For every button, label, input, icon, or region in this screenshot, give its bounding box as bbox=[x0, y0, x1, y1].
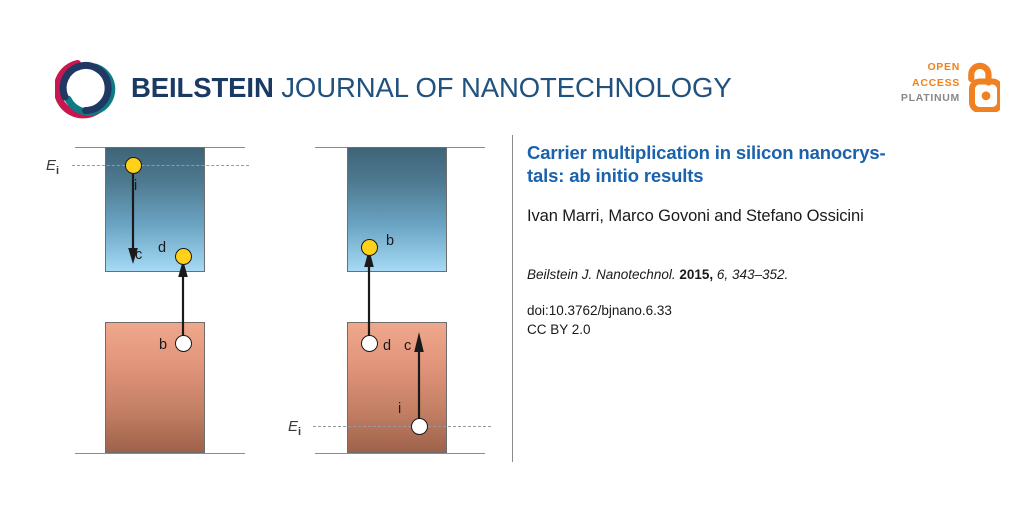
panel-right-arrow-d-to-b bbox=[364, 247, 384, 342]
journal-header: BEILSTEIN JOURNAL OF NANOTECHNOLOGY OPEN… bbox=[0, 0, 1024, 132]
panel-right-bottom-rail bbox=[315, 453, 485, 454]
panel-right-carrier-c-label: c bbox=[404, 339, 411, 354]
panel-right-carrier-d-label: d bbox=[383, 339, 391, 354]
panel-left-energy-symbol: E bbox=[46, 157, 56, 174]
journal-wordmark-bold: BEILSTEIN bbox=[131, 72, 274, 103]
panel-left-carrier-d bbox=[175, 248, 192, 265]
panel-right-energy-symbol: E bbox=[288, 418, 298, 435]
article-doi[interactable]: doi:10.3762/bjnano.6.33 bbox=[527, 301, 957, 320]
article-title: Carrier multiplication in silicon nanocr… bbox=[527, 142, 957, 187]
panel-left-carrier-c-label: c bbox=[135, 248, 142, 263]
panel-left-carrier-b bbox=[175, 335, 192, 352]
panel-left-arrow-b-to-d bbox=[178, 258, 198, 340]
panel-left-carrier-d-label: d bbox=[158, 241, 166, 256]
panel-left-carrier-b-label: b bbox=[159, 338, 167, 353]
citation-year: 2015, bbox=[679, 267, 713, 282]
panel-left-energy-level-line bbox=[72, 165, 249, 166]
open-access-line-open: OPEN bbox=[840, 60, 960, 76]
open-lock-icon bbox=[962, 62, 1000, 112]
panel-left-carrier-i bbox=[125, 157, 142, 174]
panel-right-conduction-band bbox=[347, 147, 447, 272]
beilstein-ring-logo-icon bbox=[55, 57, 117, 119]
article-citation: Beilstein J. Nanotechnol. 2015, 6, 343–3… bbox=[527, 227, 957, 284]
citation-pages: 343–352. bbox=[732, 267, 788, 282]
panel-left-bottom-rail bbox=[75, 453, 245, 454]
panel-right-energy-subscript: i bbox=[298, 426, 301, 438]
article-metadata: Carrier multiplication in silicon nanocr… bbox=[527, 142, 957, 339]
panel-left-carrier-i-label: i bbox=[134, 179, 137, 194]
panel-right-arrow-i-to-c bbox=[414, 330, 434, 430]
journal-wordmark: BEILSTEIN JOURNAL OF NANOTECHNOLOGY bbox=[131, 70, 732, 106]
article-cover-card: BEILSTEIN JOURNAL OF NANOTECHNOLOGY OPEN… bbox=[0, 0, 1024, 512]
panel-right-carrier-i bbox=[411, 418, 428, 435]
carrier-multiplication-band-diagram: Ei i c d b Ei bbox=[0, 130, 512, 475]
citation-volume: 6, bbox=[717, 267, 728, 282]
panel-right-energy-level-label: Ei bbox=[288, 419, 301, 438]
open-access-line-platinum: PLATINUM bbox=[840, 91, 960, 107]
panel-right-carrier-b bbox=[361, 239, 378, 256]
panel-left-energy-subscript: i bbox=[56, 165, 59, 177]
open-access-badge: OPEN ACCESS PLATINUM bbox=[888, 60, 1000, 118]
panel-right-carrier-d bbox=[361, 335, 378, 352]
vertical-divider bbox=[512, 135, 513, 462]
citation-journal: Beilstein J. Nanotechnol. bbox=[527, 267, 676, 282]
panel-right-energy-level-line bbox=[313, 426, 491, 427]
journal-wordmark-light: JOURNAL OF NANOTECHNOLOGY bbox=[274, 72, 732, 103]
article-authors: Ivan Marri, Marco Govoni and Stefano Oss… bbox=[527, 187, 957, 227]
article-license[interactable]: CC BY 2.0 bbox=[527, 320, 957, 339]
open-access-line-access: ACCESS bbox=[840, 76, 960, 92]
panel-right-carrier-b-label: b bbox=[386, 234, 394, 249]
open-access-label: OPEN ACCESS PLATINUM bbox=[840, 60, 960, 107]
panel-right-carrier-i-label: i bbox=[398, 402, 401, 417]
panel-left-energy-level-label: Ei bbox=[46, 158, 59, 177]
article-doi-license: doi:10.3762/bjnano.6.33 CC BY 2.0 bbox=[527, 284, 957, 339]
